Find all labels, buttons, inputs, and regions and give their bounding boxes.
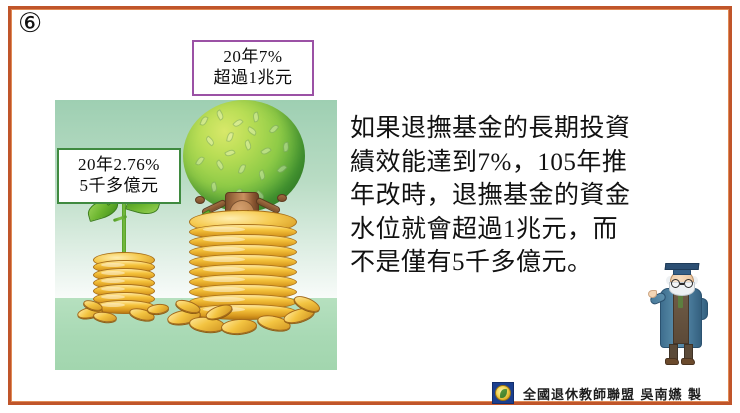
professor-pointing-hand [648, 290, 657, 298]
footer-credit-text: 全國退休教師聯盟 吳南嬿 製 [523, 384, 702, 403]
large-coin-stack [189, 210, 297, 322]
callout-purple-line2: 超過1兆元 [198, 67, 308, 88]
professor-character [648, 258, 716, 370]
callout-green-line2: 5千多億元 [62, 175, 176, 196]
tree-branch-left-hand [195, 196, 205, 204]
body-line-3: 年改時，退撫基金的資金 [350, 179, 702, 213]
logo-emblem [495, 385, 511, 401]
small-coin-stack [93, 252, 155, 314]
callout-green-box: 20年2.76% 5千多億元 [57, 148, 181, 204]
organization-logo-icon [492, 382, 514, 404]
body-paragraph: 如果退撫基金的長期投資 績效能達到7%，105年推 年改時，退撫基金的資金 水位… [350, 112, 702, 280]
slide-number-marker: ⑥ [18, 10, 42, 37]
professor-glasses-left [671, 279, 680, 288]
slide-canvas: ⑥ [0, 0, 740, 413]
body-line-4: 水位就會超過1兆元，而 [350, 213, 702, 247]
professor-shoe-right [681, 358, 695, 365]
large-tree-on-coin-stack [165, 100, 325, 332]
tree-branch-right-hand [277, 194, 287, 202]
callout-purple-line1: 20年7% [198, 46, 308, 67]
growth-comparison-illustration [55, 100, 337, 370]
professor-glasses-bridge [680, 283, 684, 285]
body-line-2: 績效能達到7%，105年推 [350, 146, 702, 180]
professor-glasses-right [684, 279, 693, 288]
professor-shoe-left [665, 358, 679, 365]
body-line-1: 如果退撫基金的長期投資 [350, 112, 702, 146]
callout-purple-box: 20年7% 超過1兆元 [192, 40, 314, 96]
graduation-cap-icon [665, 263, 700, 270]
footer-credit: 全國退休教師聯盟 吳南嬿 製 [492, 382, 702, 404]
callout-green-line1: 20年2.76% [62, 154, 176, 175]
